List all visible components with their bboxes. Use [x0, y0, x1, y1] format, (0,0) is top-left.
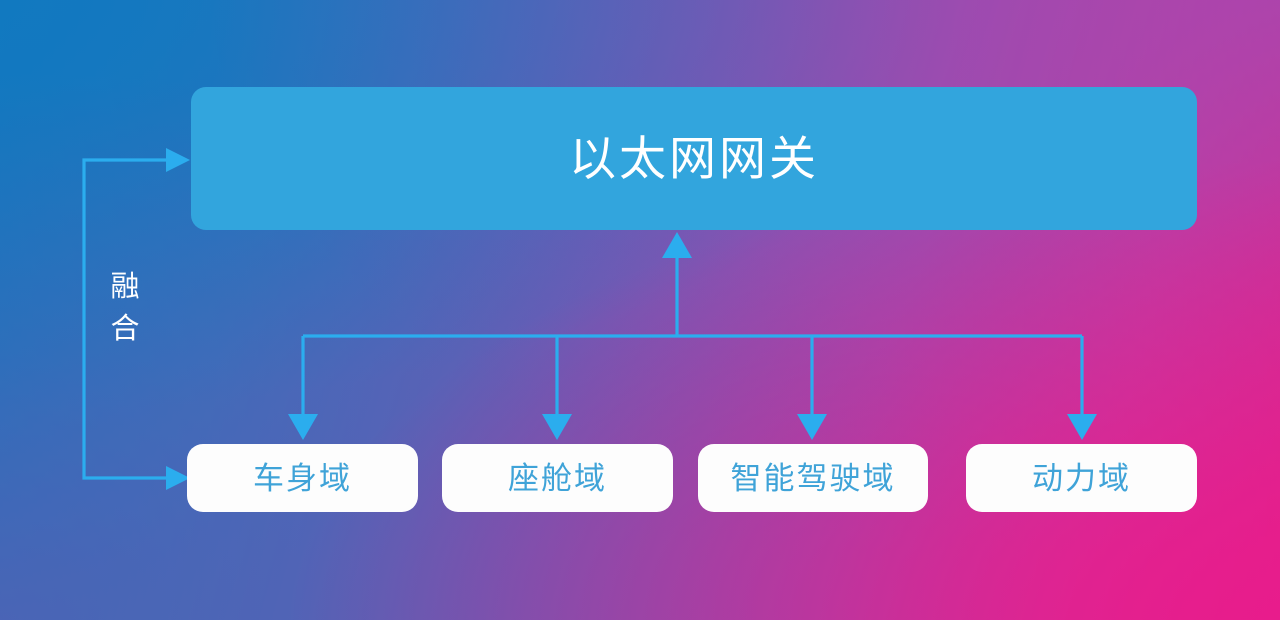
arrow-head-fusion-to-gateway: [166, 148, 190, 172]
ethernet-gateway-node[interactable]: 以太网网关: [191, 87, 1197, 230]
diagram-canvas: 融 合 以太网网关 车身域 座舱域 智能驾驶域 动力域: [0, 0, 1280, 620]
domain-node-label: 座舱域: [508, 463, 607, 494]
domain-node-autonomous-driving[interactable]: 智能驾驶域: [698, 444, 928, 512]
arrow-head-down-domain-3: [1067, 414, 1097, 440]
domain-node-label: 车身域: [253, 463, 352, 494]
domain-node-body[interactable]: 车身域: [187, 444, 418, 512]
fusion-annotation-label: 融 合: [105, 266, 145, 350]
ethernet-gateway-label: 以太网网关: [569, 135, 819, 182]
arrow-head-down-domain-0: [288, 414, 318, 440]
arrow-head-down-domain-1: [542, 414, 572, 440]
fusion-char-1: 融: [105, 266, 145, 308]
arrow-head-down-domain-2: [797, 414, 827, 440]
domain-node-label: 动力域: [1032, 463, 1131, 494]
domain-node-powertrain[interactable]: 动力域: [966, 444, 1197, 512]
fusion-char-2: 合: [105, 308, 145, 350]
domain-node-cockpit[interactable]: 座舱域: [442, 444, 673, 512]
arrow-head-up-to-gateway: [662, 232, 692, 258]
domain-node-label: 智能驾驶域: [731, 463, 896, 494]
